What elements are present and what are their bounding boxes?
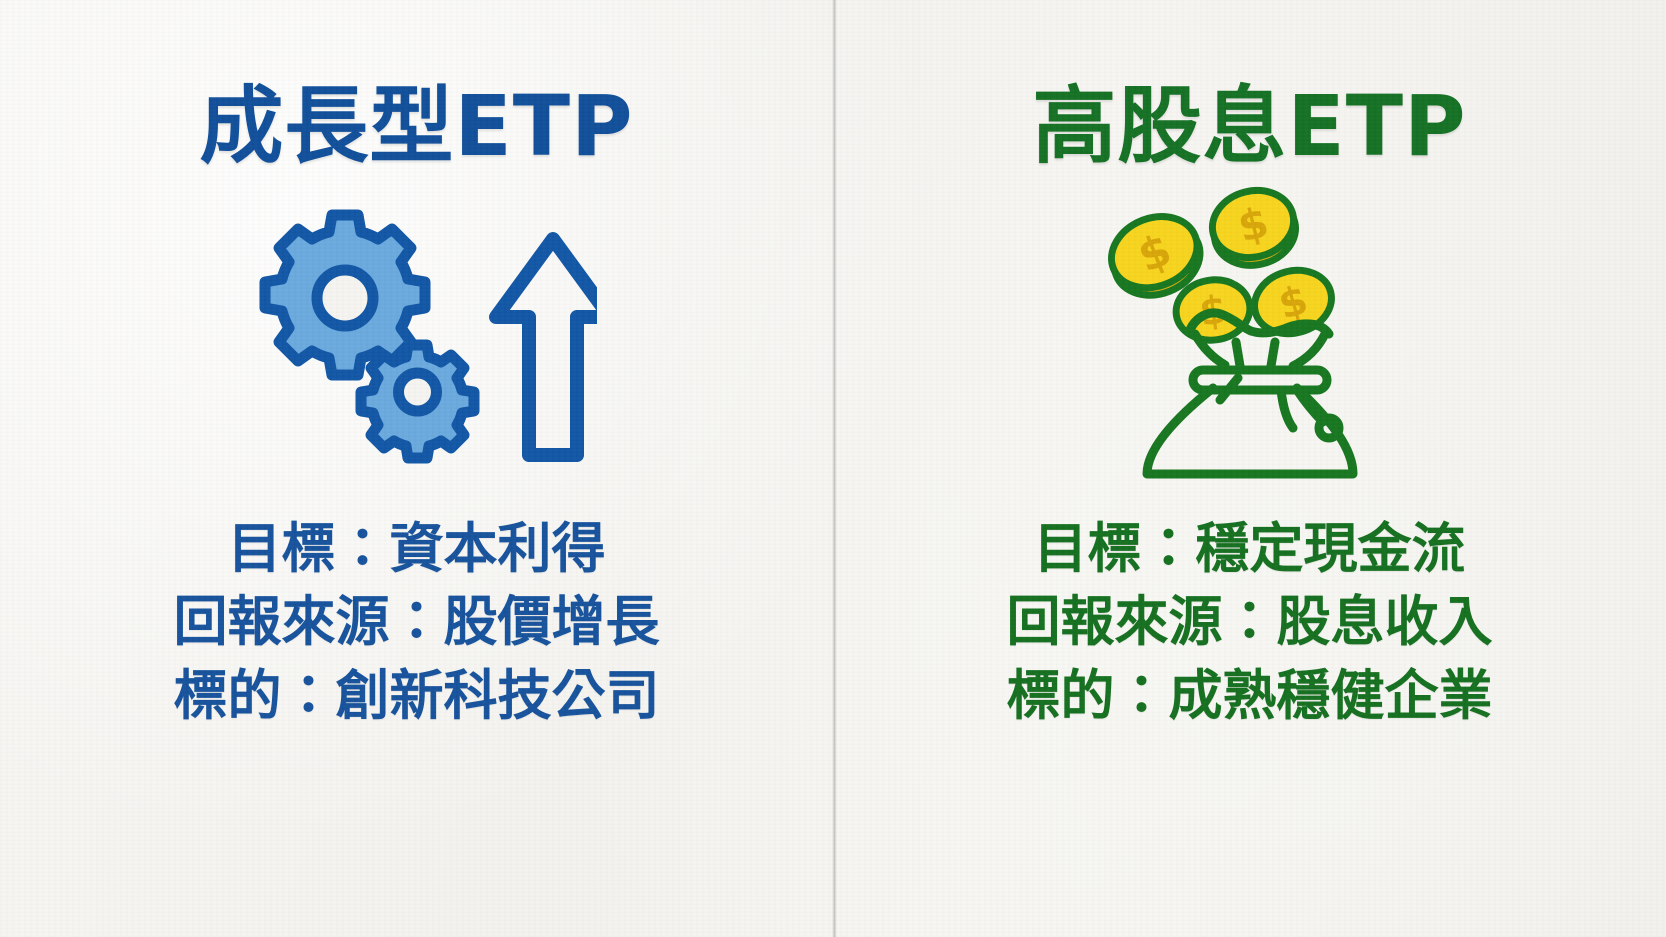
body-line: 目標：穩定現金流 [1007,512,1493,585]
comparison-infographic: 成長型ETP 目標：資本利得 回報來源：股 [0,0,1666,937]
gears-and-up-arrow-icon [237,197,597,467]
body-line: 回報來源：股價增長 [174,585,660,658]
panel-title-high-dividend: 高股息ETP [1032,84,1466,168]
body-line: 標的：創新科技公司 [174,659,660,732]
panel-body-growth: 目標：資本利得 回報來源：股價增長 標的：創新科技公司 [174,512,660,732]
up-arrow-icon [496,239,597,455]
panel-body-high-dividend: 目標：穩定現金流 回報來源：股息收入 標的：成熟穩健企業 [1007,512,1493,732]
panel-title-growth: 成長型ETP [199,84,633,168]
icon-gears-and-up-arrow-wrap [237,182,597,482]
body-line: 目標：資本利得 [174,512,660,585]
panel-high-dividend-etp: 高股息ETP $ $ [833,0,1666,937]
money-bag-shape [1147,313,1353,474]
panel-divider [832,0,837,937]
body-line: 標的：成熟穩健企業 [1007,659,1493,732]
money-bag-with-coins-icon: $ $ $ $ [1085,182,1415,482]
icon-money-bag-wrap: $ $ $ $ [1085,182,1415,482]
body-line: 回報來源：股息收入 [1007,585,1493,658]
panel-growth-etp: 成長型ETP 目標：資本利得 回報來源：股 [0,0,833,937]
